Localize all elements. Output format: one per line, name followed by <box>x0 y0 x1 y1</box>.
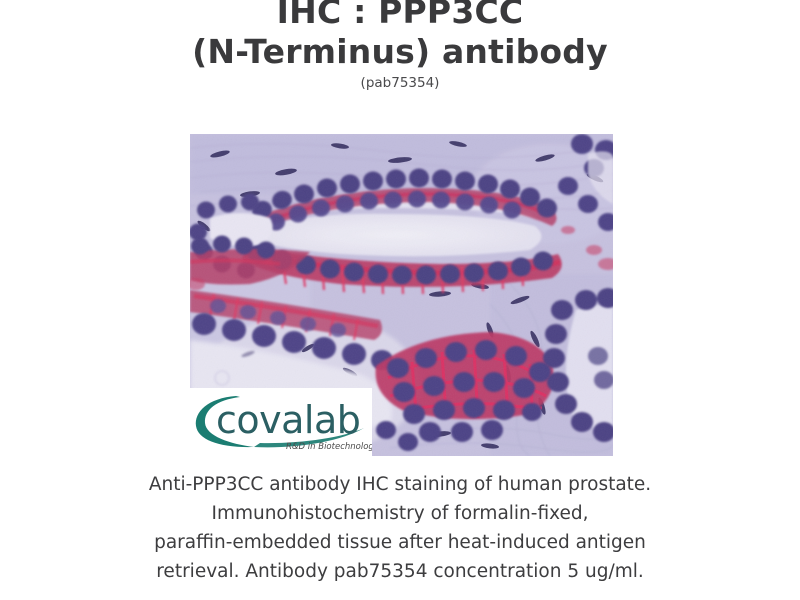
covalab-logo-svg: covalab R&D in Biotechnology <box>190 388 372 456</box>
page-title-line-2: (N-Terminus) antibody <box>0 32 800 72</box>
page-title-line-1: IHC : PPP3CC <box>0 0 800 32</box>
caption-line-4: retrieval. Antibody pab75354 concentrati… <box>60 557 740 586</box>
logo-tagline: R&D in Biotechnology <box>286 442 372 452</box>
catalog-code: (pab75354) <box>0 74 800 92</box>
caption-line-3: paraffin-embedded tissue after heat-indu… <box>60 528 740 557</box>
caption-line-2: Immunohistochemistry of formalin-fixed, <box>60 499 740 528</box>
page-header: IHC : PPP3CC (N-Terminus) antibody (pab7… <box>0 0 800 92</box>
caption-line-1: Anti-PPP3CC antibody IHC staining of hum… <box>60 470 740 499</box>
ihc-micrograph: covalab R&D in Biotechnology <box>190 134 613 456</box>
covalab-logo: covalab R&D in Biotechnology <box>190 388 372 456</box>
logo-wordmark: covalab <box>216 398 360 442</box>
figure-caption: Anti-PPP3CC antibody IHC staining of hum… <box>60 470 740 586</box>
product-image-page: IHC : PPP3CC (N-Terminus) antibody (pab7… <box>0 0 800 600</box>
